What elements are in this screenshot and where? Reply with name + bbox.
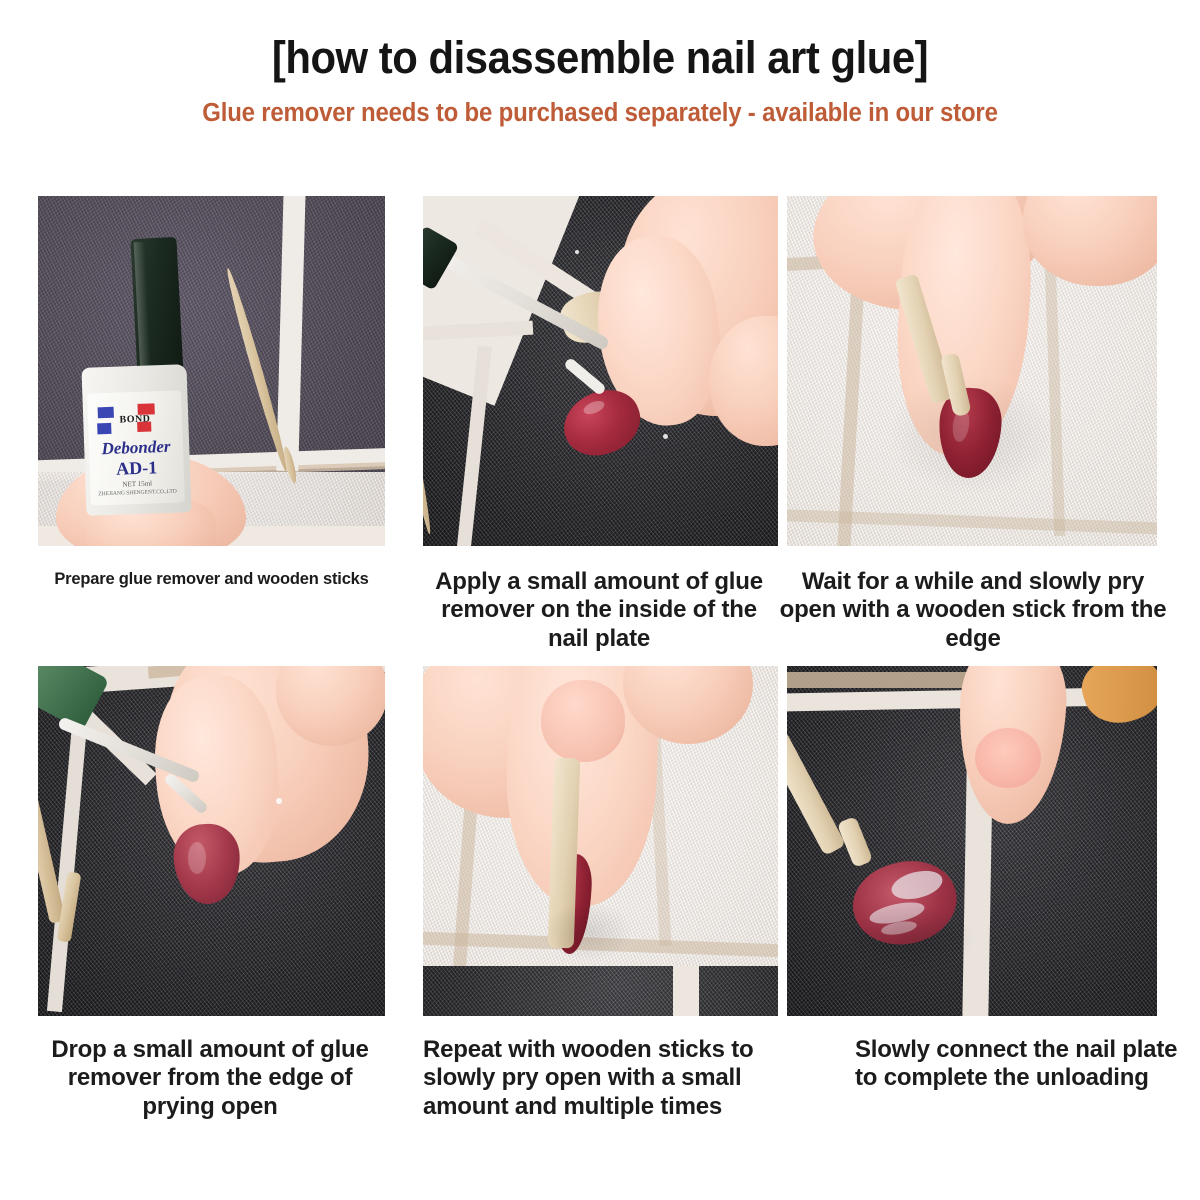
steps-row-top: BOND Debonder AD-1 NET 15ml ZHEJIANG SHE… [0,196,1200,666]
finger-nail-bed [541,680,625,762]
step-caption-5: Repeat with wooden sticks to slowly pry … [423,1036,778,1121]
page-title: [how to disassemble nail art glue] [42,34,1158,81]
steps-row-bottom: Drop a small amount of glue remover from… [0,666,1200,1136]
infographic-page: [how to disassemble nail art glue] Glue … [0,0,1200,1200]
step-photo-4 [38,666,385,1016]
step-photo-1: BOND Debonder AD-1 NET 15ml ZHEJIANG SHE… [38,196,385,546]
step-card-3: Wait for a while and slowly pry open wit… [765,196,1200,666]
sparkle [276,798,282,804]
fingertip-pad [975,728,1041,788]
step-photo-5 [423,666,778,1016]
step-caption-2: Apply a small amount of glue remover on … [419,568,779,653]
step-caption-1: Prepare glue remover and wooden sticks [38,570,385,589]
step-photo-2 [423,196,778,546]
bottom-gap-stripe [673,966,699,1016]
step-photo-3 [787,196,1157,546]
nail-shadow [845,904,975,974]
dark-patch-bottom [423,966,778,1016]
label-code: AD-1 [89,456,184,480]
step-card-2: Apply a small amount of glue remover on … [385,196,765,666]
step-card-1: BOND Debonder AD-1 NET 15ml ZHEJIANG SHE… [0,196,385,666]
steps-grid: BOND Debonder AD-1 NET 15ml ZHEJIANG SHE… [0,196,1200,1136]
header: [how to disassemble nail art glue] Glue … [0,0,1200,128]
bottle-label: BOND Debonder AD-1 NET 15ml ZHEJIANG SHE… [87,390,185,505]
page-subtitle: Glue remover needs to be purchased separ… [36,99,1164,128]
sparkle [663,434,668,439]
step-card-5: Repeat with wooden sticks to slowly pry … [385,666,765,1136]
step-caption-6: Slowly connect the nail plate to complet… [855,1036,1185,1093]
step-card-6: Slowly connect the nail plate to complet… [765,666,1200,1136]
nail-shadow [543,902,633,962]
label-company: ZHEJIANG SHENGENT.CO.,LTD [90,488,184,497]
step-caption-4: Drop a small amount of glue remover from… [30,1036,390,1121]
label-brand: BOND [88,412,182,426]
step-photo-6 [787,666,1157,1016]
step-card-4: Drop a small amount of glue remover from… [0,666,385,1136]
nail-highlight [188,842,206,874]
step-caption-3: Wait for a while and slowly pry open wit… [779,568,1167,653]
sparkle [575,250,579,254]
